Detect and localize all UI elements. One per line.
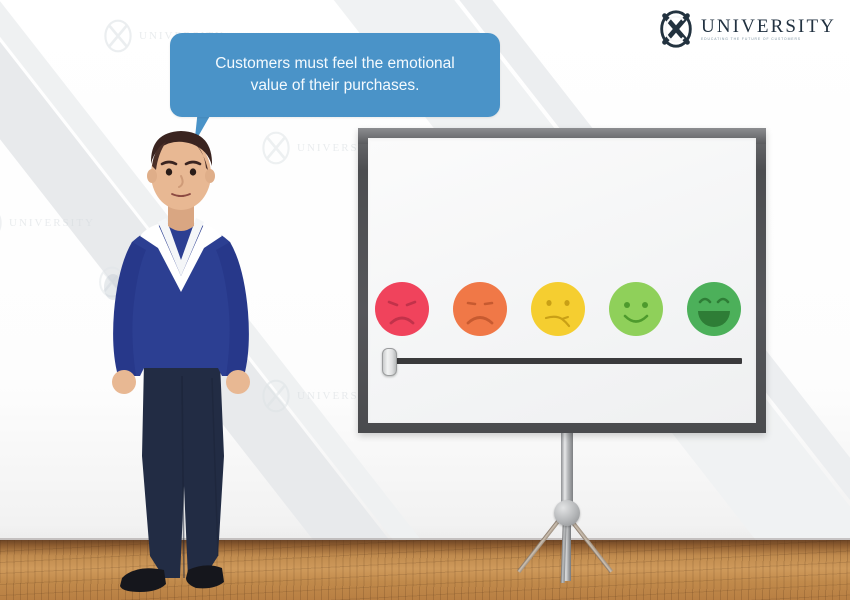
face-neutral-icon bbox=[530, 278, 586, 340]
tripod-hub bbox=[554, 500, 580, 526]
face-very-unhappy[interactable] bbox=[374, 278, 430, 340]
presenter-character bbox=[96, 126, 266, 596]
watermark-label: UNIVERSITY bbox=[9, 217, 95, 229]
x-monogram-icon bbox=[100, 18, 136, 54]
speech-line-2: value of their purchases. bbox=[251, 75, 420, 97]
satisfaction-rating-scale bbox=[368, 278, 756, 348]
presenter-illustration bbox=[96, 126, 266, 596]
face-happy[interactable] bbox=[608, 278, 664, 340]
brand-logo: UNIVERSITY EDUCATING THE FUTURE OF CUSTO… bbox=[655, 8, 836, 50]
speech-line-1: Customers must feel the emotional bbox=[215, 53, 455, 75]
satisfaction-slider[interactable] bbox=[382, 352, 742, 370]
face-very-happy[interactable] bbox=[686, 278, 742, 340]
face-very-unhappy-icon bbox=[374, 278, 430, 340]
face-very-happy-icon bbox=[686, 278, 742, 340]
x-monogram-icon bbox=[0, 205, 6, 241]
face-unhappy-icon bbox=[452, 278, 508, 340]
speech-bubble-text: Customers must feel the emotional value … bbox=[170, 33, 500, 117]
speech-bubble: Customers must feel the emotional value … bbox=[170, 33, 500, 117]
slider-track[interactable] bbox=[388, 358, 742, 364]
face-unhappy[interactable] bbox=[452, 278, 508, 340]
watermark: UNIVERSITY bbox=[0, 205, 95, 241]
x-monogram-logo-icon bbox=[655, 8, 697, 50]
slider-thumb[interactable] bbox=[382, 348, 397, 376]
brand-name: UNIVERSITY bbox=[701, 17, 836, 36]
face-neutral[interactable] bbox=[530, 278, 586, 340]
brand-wordmark: UNIVERSITY EDUCATING THE FUTURE OF CUSTO… bbox=[701, 17, 836, 41]
video-scene: UNIVERSITY UNIVERSITY UNIVERSITY UNIVERS… bbox=[0, 0, 850, 600]
brand-tagline: EDUCATING THE FUTURE OF CUSTOMERS bbox=[701, 38, 836, 41]
face-happy-icon bbox=[608, 278, 664, 340]
